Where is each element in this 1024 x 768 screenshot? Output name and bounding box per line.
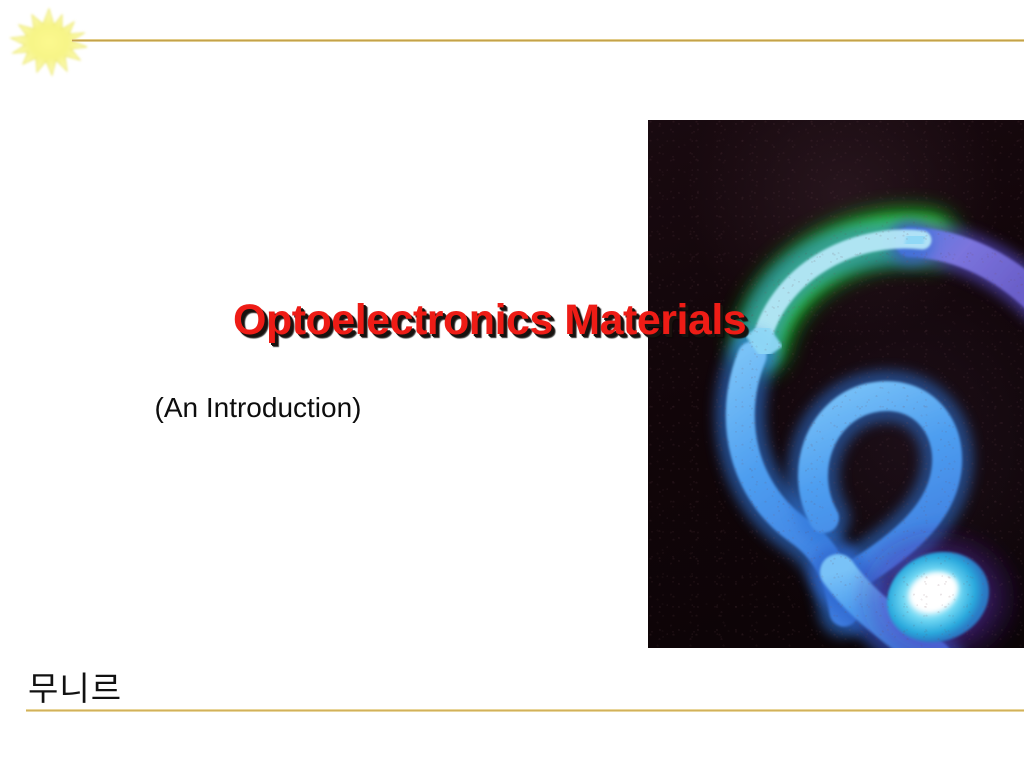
optoelectronic-fiber-photo — [648, 120, 1024, 648]
slide-canvas: Optoelectronics Materials (An Introducti… — [0, 0, 1024, 768]
starburst-icon — [8, 6, 90, 78]
page-title: Optoelectronics Materials — [233, 296, 733, 345]
bottom-gold-rule — [26, 709, 1024, 712]
page-subtitle: (An Introduction) — [0, 392, 1024, 424]
author-name: 무니르 — [28, 672, 122, 705]
top-gold-rule — [72, 39, 1024, 42]
